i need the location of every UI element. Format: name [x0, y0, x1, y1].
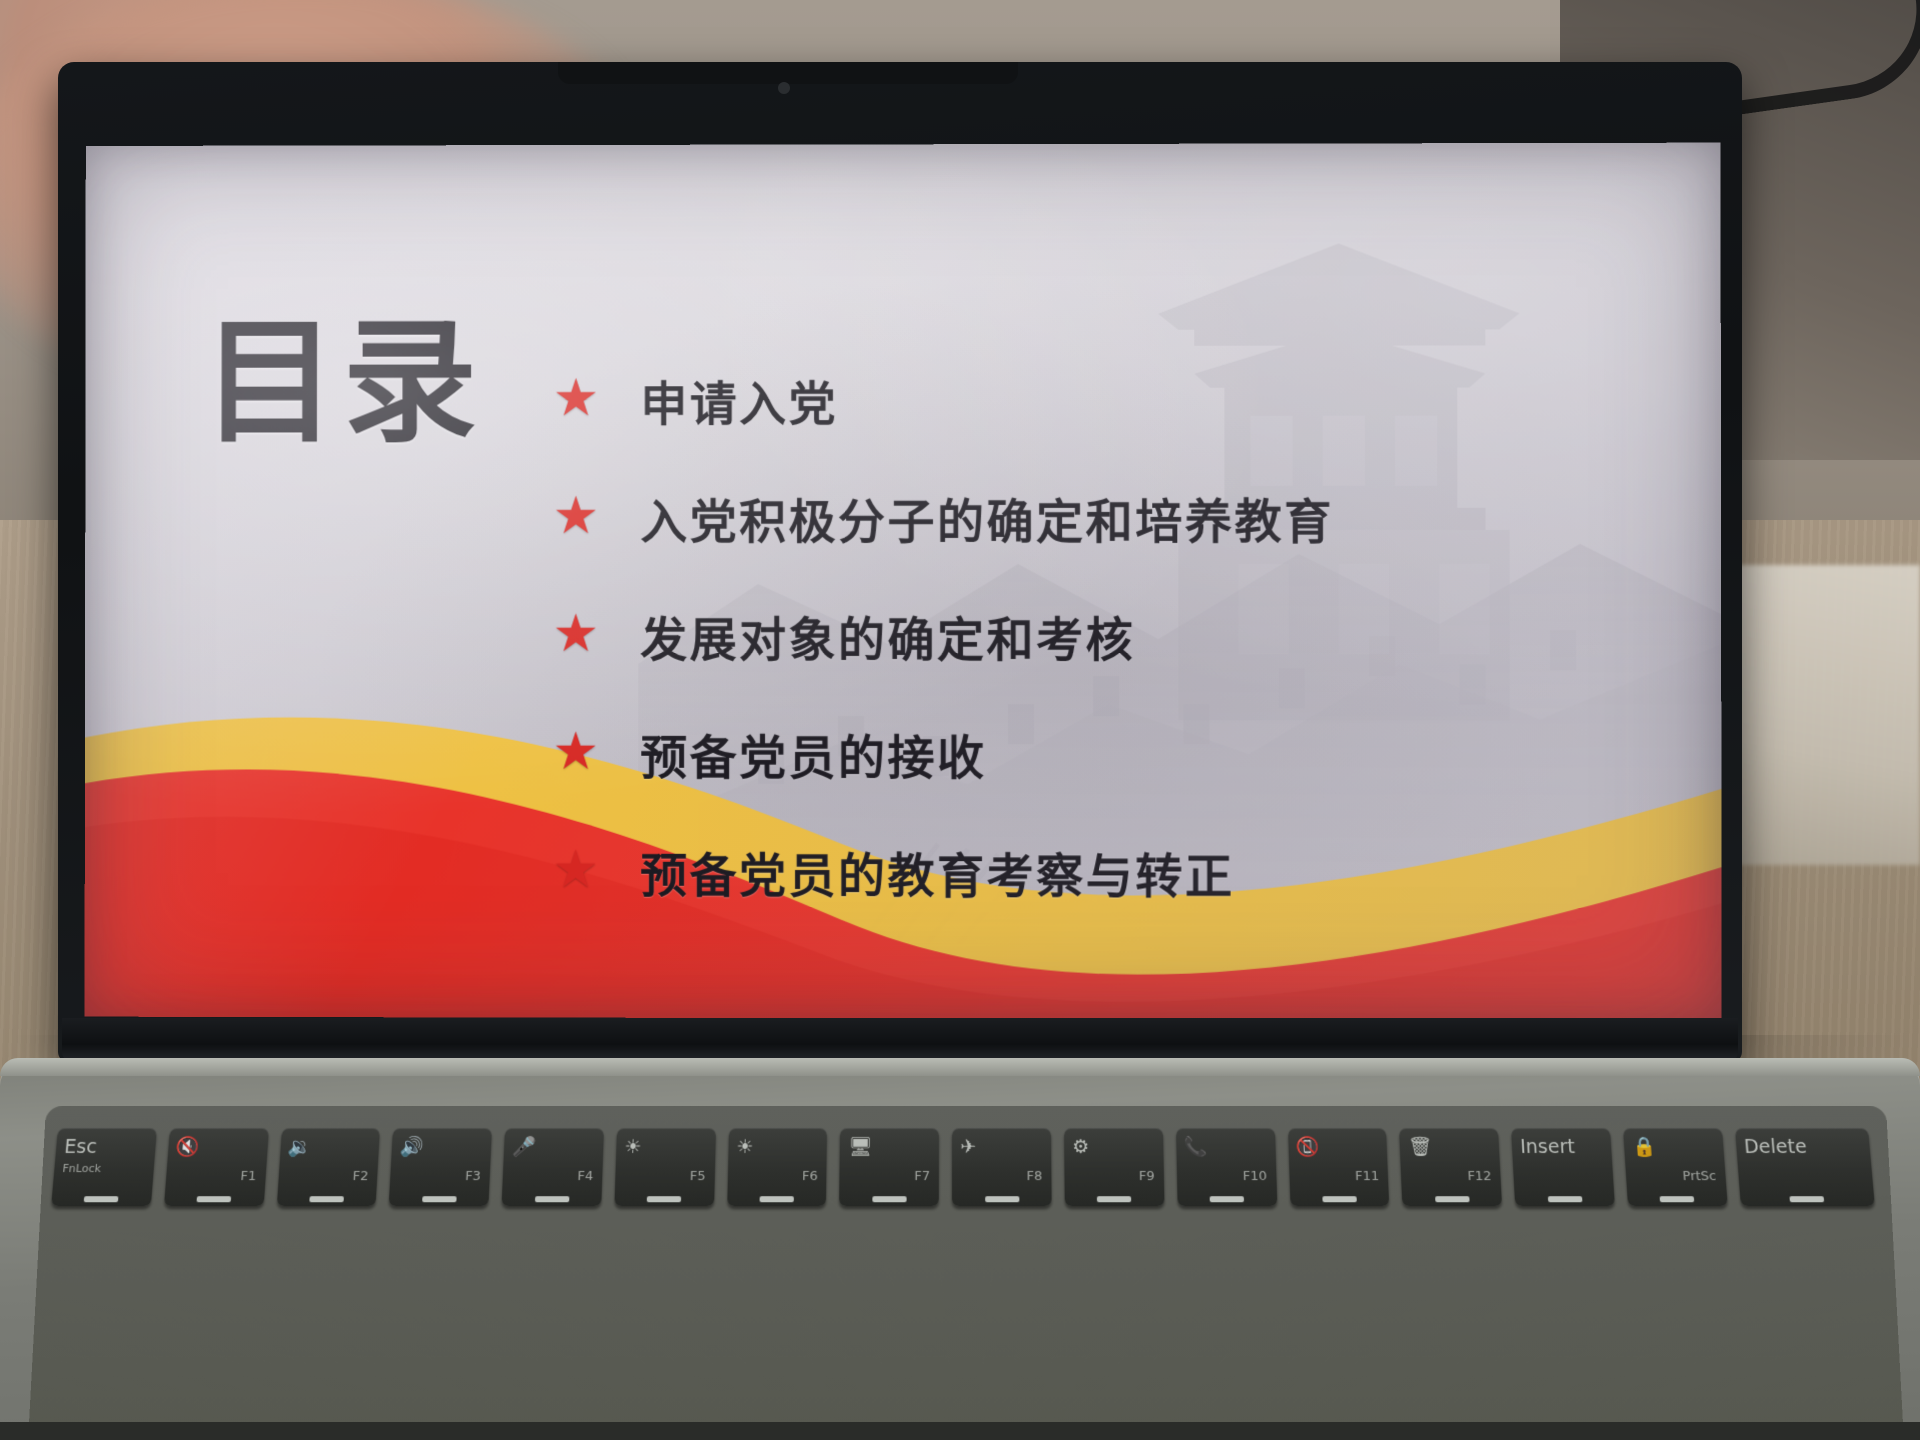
key-fn-label: F11 — [1355, 1169, 1380, 1184]
bezel-notch — [558, 62, 1018, 84]
brightness-up-icon: ☀ — [736, 1138, 753, 1157]
airplane-icon: ✈ — [960, 1138, 976, 1157]
photo-scene: 目录 ★ 申请入党 ★ 入党积极分子的确定和培养教育 ★ 发展对象的确定和考核 — [0, 0, 1920, 1440]
presentation-slide: 目录 ★ 申请入党 ★ 入党积极分子的确定和培养教育 ★ 发展对象的确定和考核 — [85, 143, 1722, 1020]
star-icon: ★ — [553, 494, 599, 540]
key-backlight — [760, 1196, 794, 1202]
key-backlight — [1322, 1196, 1356, 1202]
key-f9-settings[interactable]: ⚙ F9 — [1064, 1128, 1164, 1206]
brightness-down-icon: ☀ — [624, 1138, 642, 1157]
key-fn-label: PrtSc — [1682, 1169, 1717, 1184]
laptop-lid: 目录 ★ 申请入党 ★ 入党积极分子的确定和培养教育 ★ 发展对象的确定和考核 — [58, 62, 1742, 1062]
key-backlight — [1660, 1196, 1695, 1202]
hinge — [62, 1018, 1738, 1062]
key-backlight — [1210, 1196, 1244, 1202]
key-f11-end-call[interactable]: 📵 F11 — [1288, 1128, 1390, 1206]
trash-icon: 🗑 — [1408, 1138, 1433, 1157]
key-backlight — [647, 1196, 681, 1202]
list-item[interactable]: ★ 入党积极分子的确定和培养教育 — [553, 458, 1675, 576]
key-backlight — [1097, 1196, 1131, 1202]
key-esc[interactable]: Esc FnLock — [51, 1128, 157, 1206]
lock-icon: 🔒 — [1632, 1138, 1657, 1157]
key-fn-label: F8 — [1027, 1169, 1043, 1184]
key-backlight — [84, 1196, 119, 1202]
key-fn-label: F9 — [1139, 1169, 1155, 1184]
webcam-icon — [778, 82, 790, 94]
display-switch-icon: 🖥 — [848, 1138, 872, 1157]
volume-down-icon: 🔉 — [288, 1138, 313, 1157]
key-f8-airplane-mode[interactable]: ✈ F8 — [952, 1128, 1052, 1206]
phone-icon: 📞 — [1184, 1138, 1208, 1157]
key-fn-label: F4 — [577, 1169, 593, 1184]
toc-list: ★ 申请入党 ★ 入党积极分子的确定和培养教育 ★ 发展对象的确定和考核 ★ 预… — [552, 339, 1675, 931]
list-item-label: 预备党员的接收 — [640, 718, 986, 787]
key-fn-label: F5 — [689, 1169, 705, 1184]
key-f6-brightness-up[interactable]: ☀ F6 — [727, 1128, 828, 1206]
key-f1-mute[interactable]: 🔇 F1 — [164, 1128, 269, 1206]
list-item-label: 申请入党 — [640, 365, 838, 434]
phone-hangup-icon: 📵 — [1296, 1138, 1320, 1157]
key-backlight — [1435, 1196, 1470, 1202]
list-item-label: 发展对象的确定和考核 — [640, 600, 1135, 669]
list-item-label: 入党积极分子的确定和培养教育 — [640, 482, 1333, 551]
list-item[interactable]: ★ 发展对象的确定和考核 — [553, 576, 1675, 694]
star-icon: ★ — [552, 730, 598, 776]
key-f5-brightness-down[interactable]: ☀ F5 — [614, 1128, 715, 1206]
page-title: 目录 — [203, 313, 484, 455]
key-f12-recycle-bin[interactable]: 🗑 F12 — [1399, 1128, 1502, 1206]
key-fn-label: F10 — [1243, 1169, 1268, 1184]
mute-icon: 🔇 — [176, 1138, 201, 1157]
key-prtsc-lock[interactable]: 🔒 PrtSc — [1623, 1128, 1728, 1206]
star-icon: ★ — [552, 848, 598, 894]
key-glyph: Insert — [1520, 1138, 1576, 1157]
mic-mute-icon: 🎤 — [512, 1138, 537, 1157]
key-backlight — [872, 1196, 906, 1202]
key-fn-label: F6 — [802, 1169, 818, 1184]
key-f3-volume-up[interactable]: 🔊 F3 — [389, 1128, 492, 1206]
key-fn-label: F2 — [352, 1169, 369, 1184]
key-f7-display-switch[interactable]: 🖥 F7 — [840, 1128, 940, 1206]
key-insert[interactable]: Insert — [1511, 1128, 1615, 1206]
key-glyph: Delete — [1743, 1138, 1807, 1157]
keyboard-next-row-crop — [0, 1422, 1920, 1440]
key-fn-label: F12 — [1467, 1169, 1492, 1184]
list-item-label: 预备党员的教育考察与转正 — [640, 836, 1234, 906]
gear-icon: ⚙ — [1072, 1138, 1089, 1157]
star-icon: ★ — [553, 376, 599, 422]
key-fn-label: F1 — [240, 1169, 257, 1184]
key-backlight — [534, 1196, 568, 1202]
star-icon: ★ — [553, 612, 599, 658]
key-backlight — [1790, 1196, 1825, 1202]
palmrest-edge — [0, 1058, 1920, 1076]
key-sublabel: FnLock — [62, 1162, 102, 1175]
key-f4-mic-mute[interactable]: 🎤 F4 — [502, 1128, 604, 1206]
key-backlight — [1547, 1196, 1582, 1202]
key-backlight — [309, 1196, 344, 1202]
list-item[interactable]: ★ 预备党员的教育考察与转正 — [552, 812, 1675, 932]
key-backlight — [985, 1196, 1019, 1202]
volume-up-icon: 🔊 — [400, 1138, 425, 1157]
list-item[interactable]: ★ 预备党员的接收 — [552, 694, 1675, 813]
key-f10-answer-call[interactable]: 📞 F10 — [1176, 1128, 1277, 1206]
key-backlight — [197, 1196, 232, 1202]
key-f2-volume-down[interactable]: 🔉 F2 — [276, 1128, 380, 1206]
laptop-screen[interactable]: 目录 ★ 申请入党 ★ 入党积极分子的确定和培养教育 ★ 发展对象的确定和考核 — [85, 143, 1722, 1020]
key-backlight — [422, 1196, 457, 1202]
key-glyph: Esc — [63, 1138, 97, 1157]
list-item[interactable]: ★ 申请入党 — [553, 339, 1675, 458]
keyboard-function-row[interactable]: Esc FnLock 🔇 F1 🔉 F2 🔊 F3 🎤 — [51, 1128, 1875, 1206]
key-fn-label: F3 — [465, 1169, 482, 1184]
key-delete[interactable]: Delete — [1735, 1128, 1875, 1206]
laptop-base: Esc FnLock 🔇 F1 🔉 F2 🔊 F3 🎤 — [0, 1040, 1920, 1440]
key-fn-label: F7 — [914, 1169, 930, 1184]
